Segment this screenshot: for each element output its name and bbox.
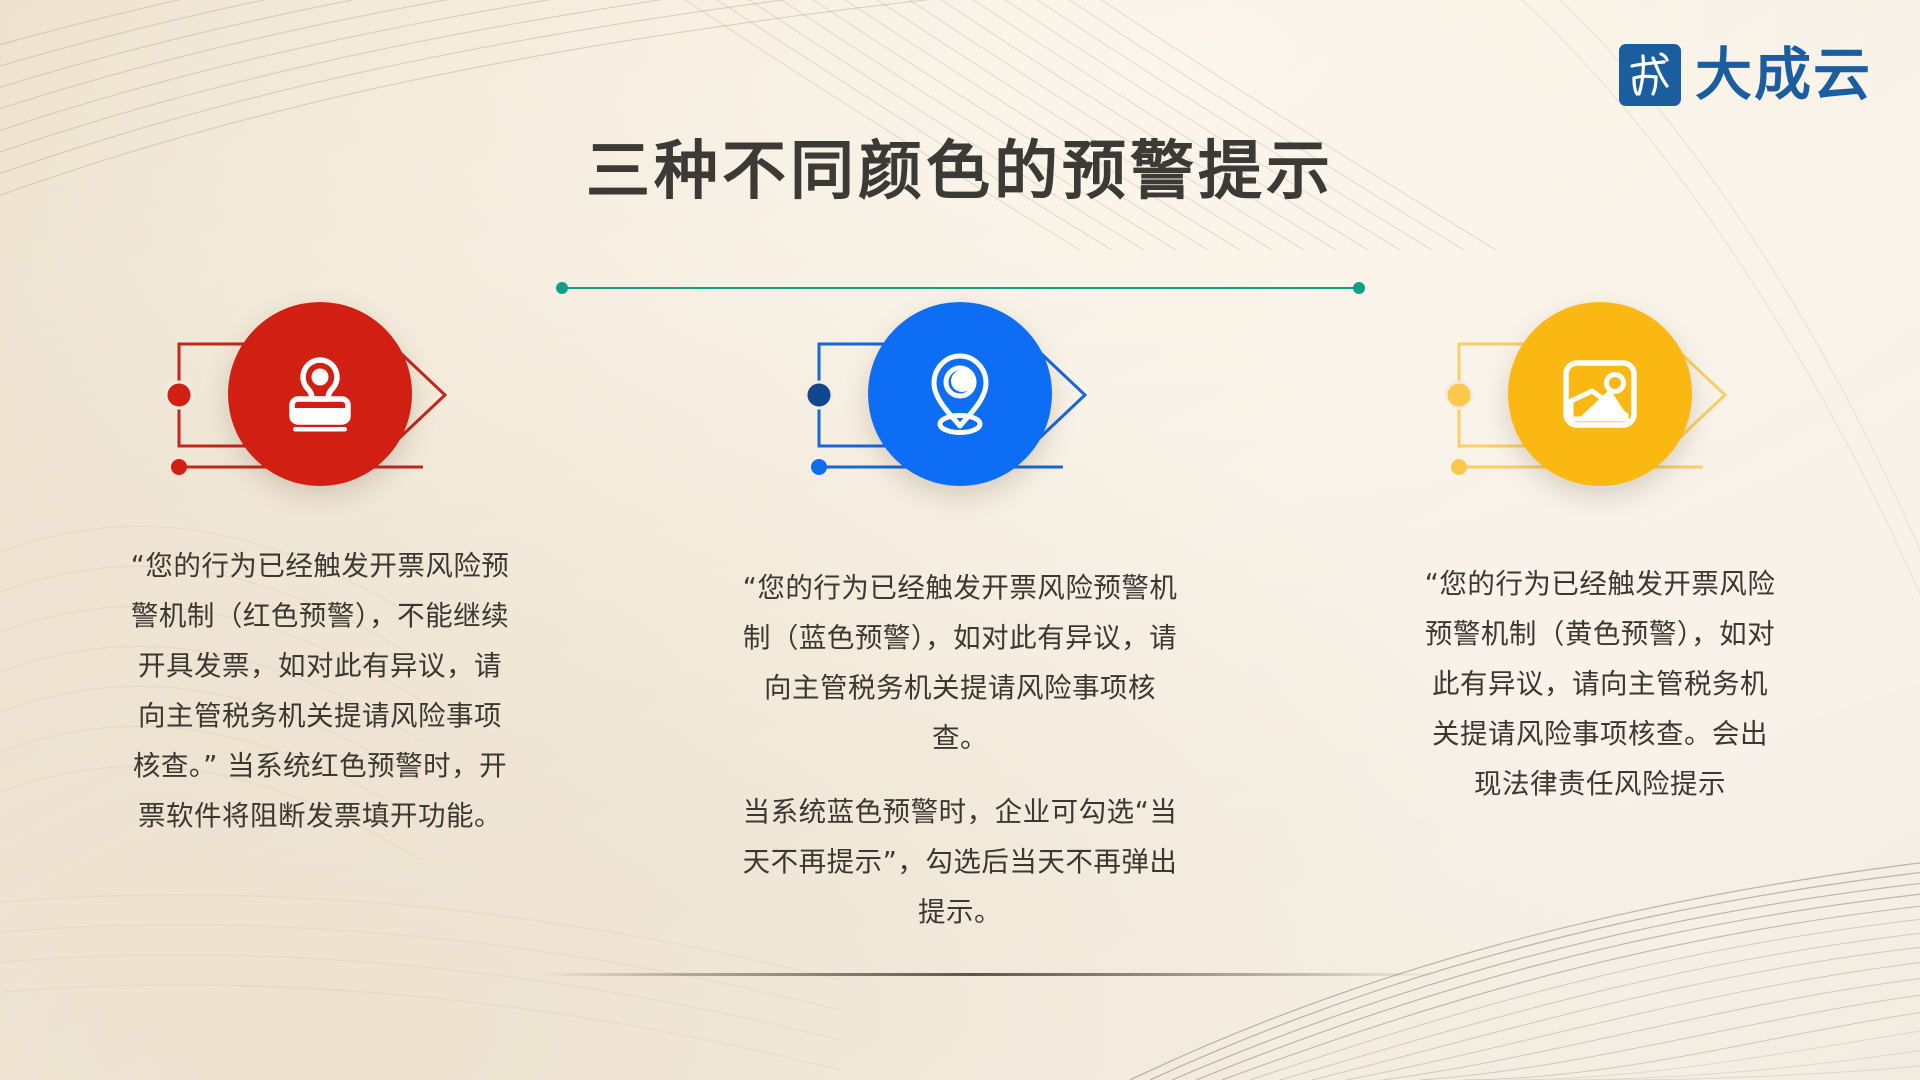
title-block: 三种不同颜色的预警提示	[0, 136, 1920, 210]
divider-line	[563, 287, 1358, 289]
warning-card-red: “您的行为已经触发开票风险预警机制（红色预警），不能继续开具发票，如对此有异议，…	[0, 300, 640, 940]
paragraph: “您的行为已经触发开票风险预警机制（蓝色预警），如对此有异议，请向主管税务机关提…	[739, 563, 1181, 763]
warning-text-yellow: “您的行为已经触发开票风险预警机制（黄色预警），如对此有异议，请向主管税务机关提…	[1400, 559, 1800, 809]
logo-text: 大成云	[1695, 47, 1872, 104]
page-title: 三种不同颜色的预警提示	[0, 136, 1920, 210]
paragraph: “您的行为已经触发开票风险预警机制（黄色预警），如对此有异议，请向主管税务机关提…	[1420, 559, 1780, 809]
paragraph: “您的行为已经触发开票风险预警机制（红色预警），不能继续开具发票，如对此有异议，…	[130, 541, 510, 841]
badge-area-red	[0, 300, 640, 505]
location-pin-icon	[912, 346, 1008, 442]
divider-dot-right	[1353, 282, 1365, 294]
warning-text-red: “您的行为已经触发开票风险预警机制（红色预警），不能继续开具发票，如对此有异议，…	[110, 541, 530, 841]
badge-circle-yellow	[1508, 302, 1692, 486]
title-divider	[556, 281, 1365, 295]
warning-card-yellow: “您的行为已经触发开票风险预警机制（黄色预警），如对此有异议，请向主管税务机关提…	[1280, 300, 1920, 940]
badge-circle-blue	[868, 302, 1052, 486]
stamp-icon	[272, 346, 368, 442]
badge-circle-red	[228, 302, 412, 486]
paragraph: 当系统蓝色预警时，企业可勾选“当天不再提示”，勾选后当天不再弹出提示。	[739, 787, 1181, 937]
badge-area-blue	[640, 300, 1280, 505]
image-icon	[1552, 346, 1648, 442]
warning-columns: “您的行为已经触发开票风险预警机制（红色预警），不能继续开具发票，如对此有异议，…	[0, 300, 1920, 940]
brand-logo: 大成云	[1619, 44, 1872, 106]
warning-card-blue: “您的行为已经触发开票风险预警机制（蓝色预警），如对此有异议，请向主管税务机关提…	[640, 300, 1280, 940]
logo-mark-icon	[1619, 44, 1681, 106]
badge-area-yellow	[1280, 300, 1920, 505]
warning-text-blue: “您的行为已经触发开票风险预警机制（蓝色预警），如对此有异议，请向主管税务机关提…	[719, 563, 1201, 937]
footer-divider	[540, 973, 1440, 976]
